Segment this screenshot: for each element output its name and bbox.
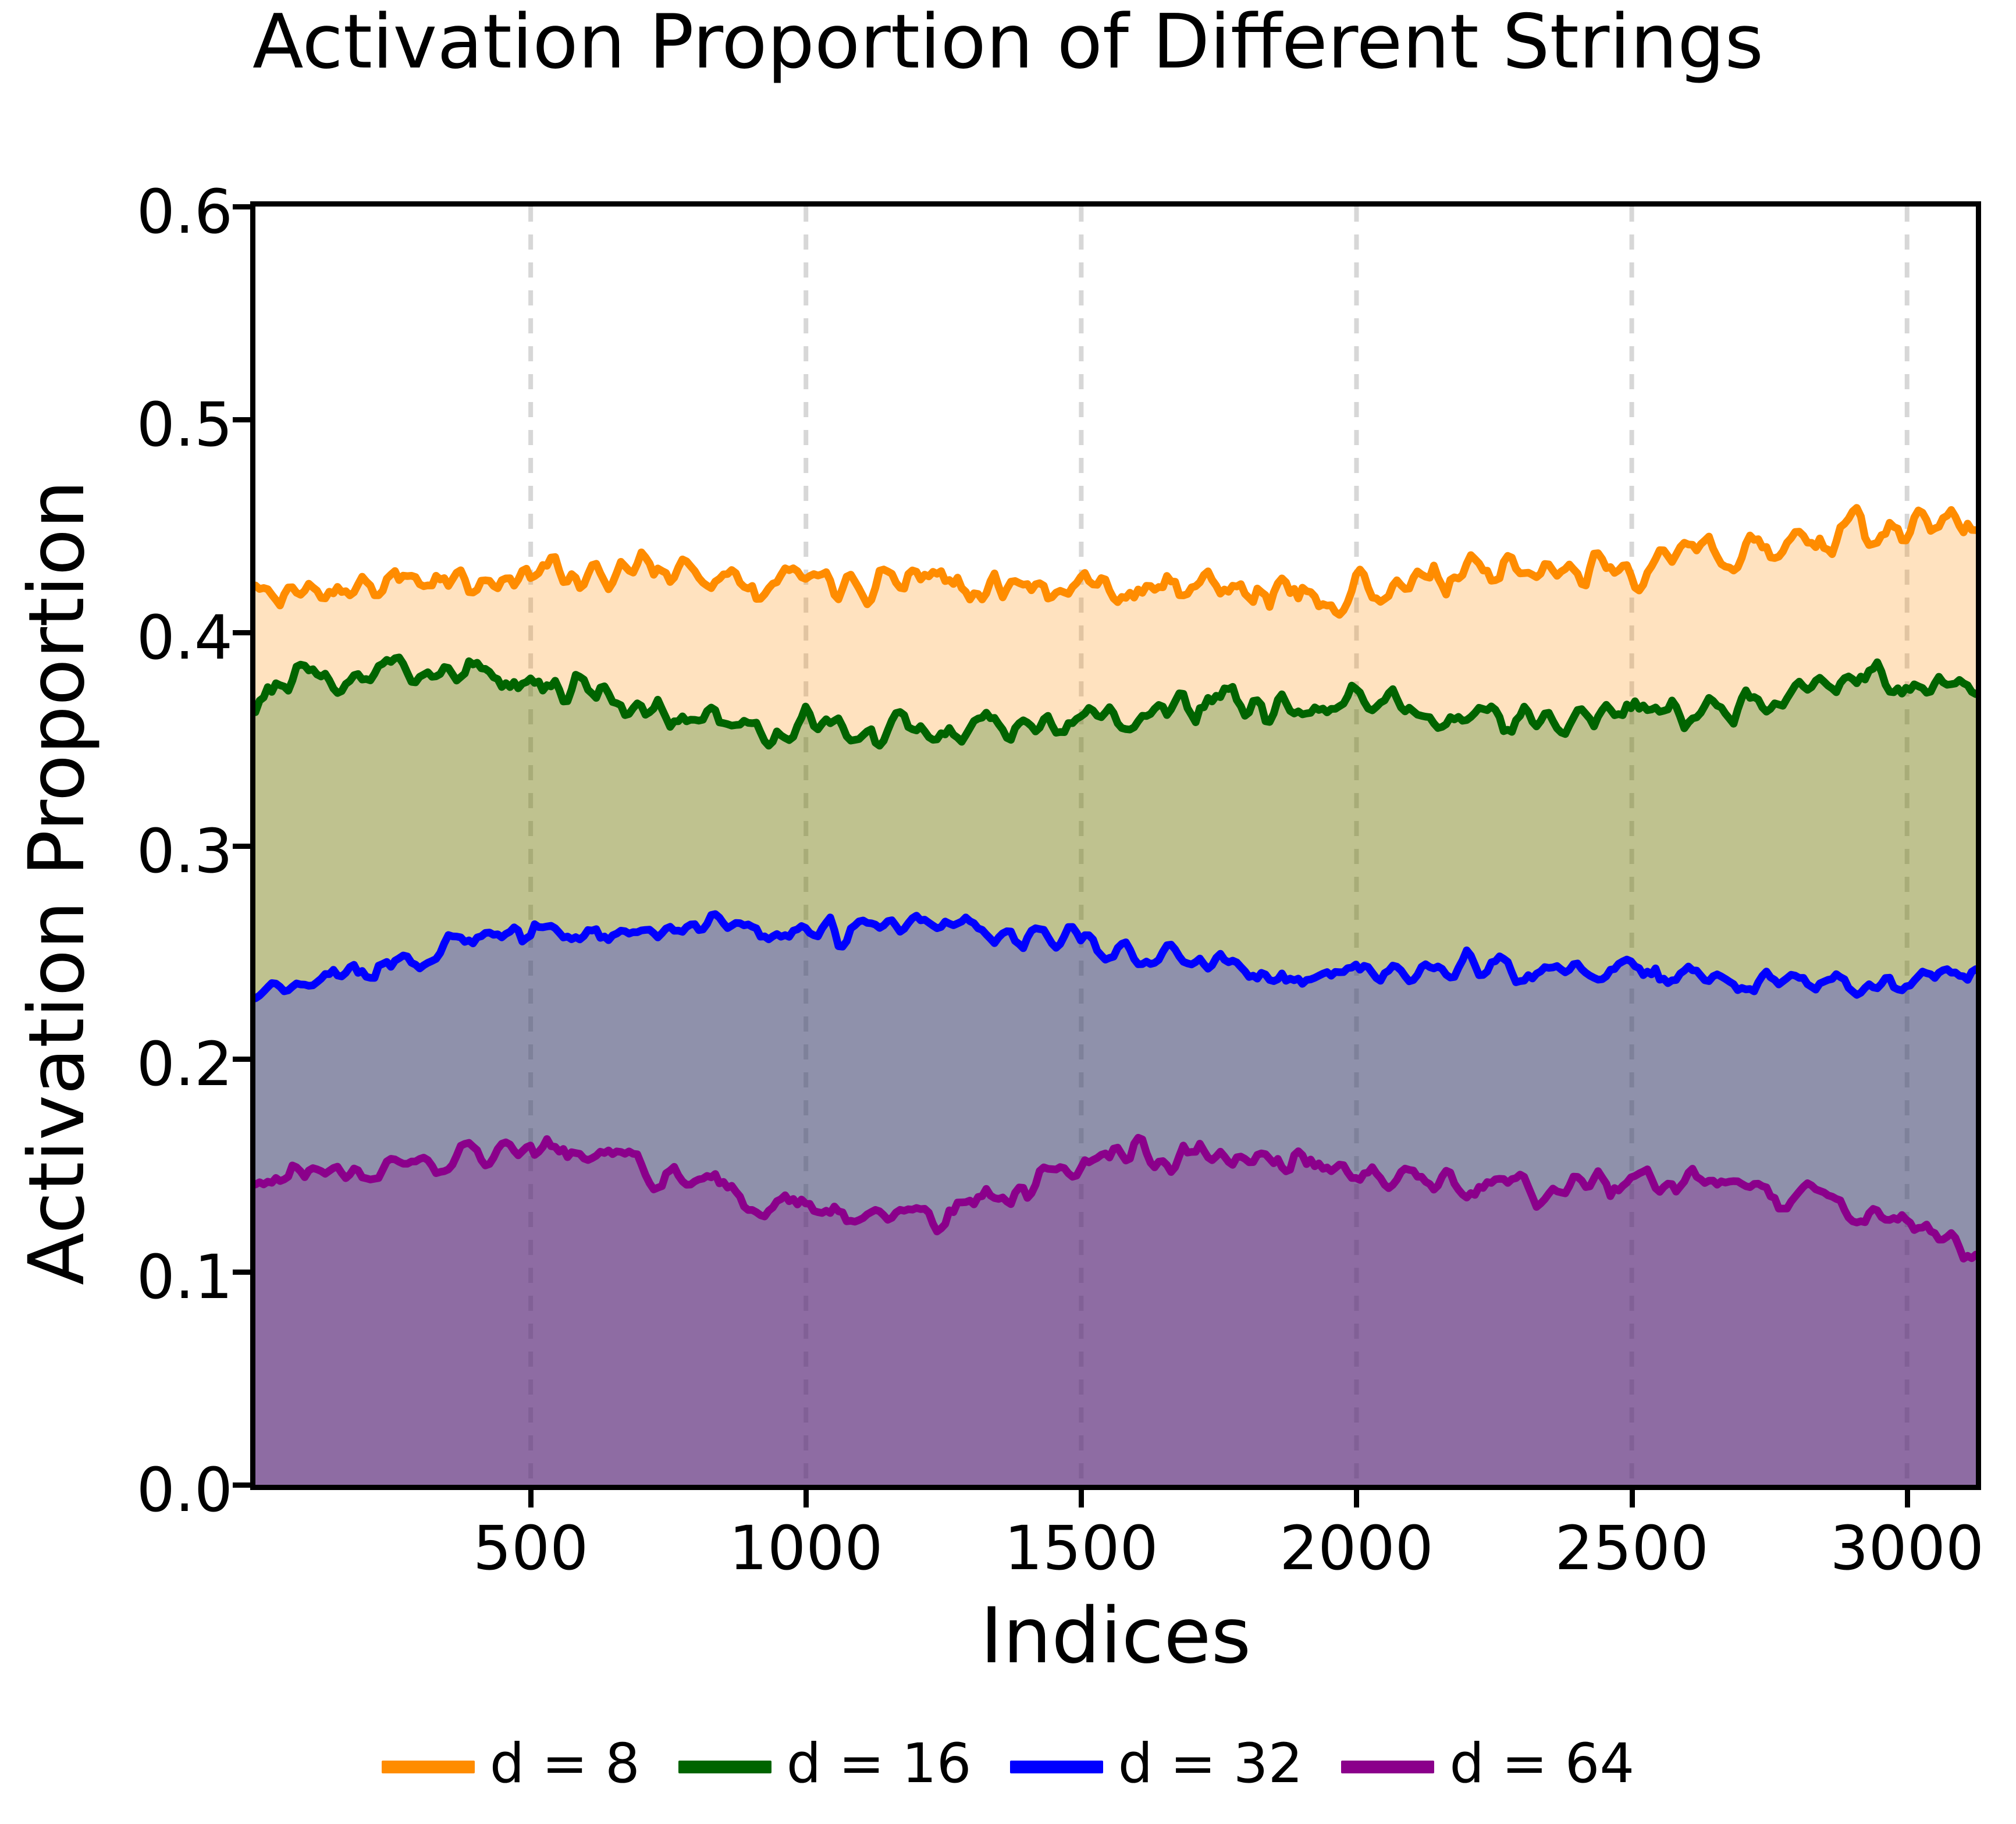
- y-tick-label: 0.3: [0, 816, 233, 887]
- legend-swatch-icon: [382, 1761, 475, 1773]
- legend-item-d32[interactable]: d = 32: [1010, 1737, 1303, 1797]
- y-tick-label: 0.6: [0, 176, 233, 247]
- x-tick-label: 1000: [689, 1513, 922, 1584]
- legend-label: d = 16: [787, 1737, 972, 1797]
- y-tick-mark: [233, 1057, 250, 1062]
- legend-item-d8[interactable]: d = 8: [382, 1737, 640, 1797]
- legend-item-d16[interactable]: d = 16: [678, 1737, 972, 1797]
- x-tick-mark: [528, 1490, 534, 1507]
- x-tick-mark: [803, 1490, 809, 1507]
- y-tick-mark: [233, 417, 250, 422]
- y-tick-mark: [233, 630, 250, 635]
- y-tick-label: 0.0: [0, 1455, 233, 1526]
- chart-page: Activation Proportion of Different Strin…: [0, 0, 2016, 1824]
- x-tick-mark: [1630, 1490, 1635, 1507]
- legend-swatch-icon: [1010, 1761, 1103, 1773]
- legend-label: d = 32: [1118, 1737, 1303, 1797]
- plot-svg: [255, 207, 1976, 1485]
- chart-legend: d = 8d = 16d = 32d = 64: [0, 1737, 2016, 1797]
- x-tick-label: 3000: [1791, 1513, 2016, 1584]
- y-tick-label: 0.4: [0, 602, 233, 673]
- x-axis-label: Indices: [250, 1591, 1981, 1681]
- y-tick-mark: [233, 204, 250, 209]
- legend-label: d = 64: [1449, 1737, 1634, 1797]
- y-tick-label: 0.1: [0, 1242, 233, 1313]
- legend-label: d = 8: [490, 1737, 640, 1797]
- x-tick-mark: [1079, 1490, 1084, 1507]
- x-tick-mark: [1354, 1490, 1359, 1507]
- y-tick-label: 0.2: [0, 1029, 233, 1100]
- x-tick-label: 2000: [1240, 1513, 1473, 1584]
- x-tick-label: 500: [414, 1513, 647, 1584]
- y-tick-mark: [233, 1270, 250, 1275]
- x-tick-label: 2500: [1516, 1513, 1748, 1584]
- y-tick-mark: [233, 1482, 250, 1488]
- legend-swatch-icon: [678, 1761, 771, 1773]
- y-tick-label: 0.5: [0, 389, 233, 460]
- page-title: Activation Proportion of Different Strin…: [0, 3, 2016, 81]
- plot-area: [250, 201, 1981, 1490]
- x-tick-mark: [1905, 1490, 1910, 1507]
- x-tick-label: 1500: [965, 1513, 1197, 1584]
- y-tick-mark: [233, 844, 250, 849]
- series-area-d64: [255, 1138, 1976, 1485]
- legend-item-d64[interactable]: d = 64: [1341, 1737, 1634, 1797]
- legend-swatch-icon: [1341, 1761, 1434, 1773]
